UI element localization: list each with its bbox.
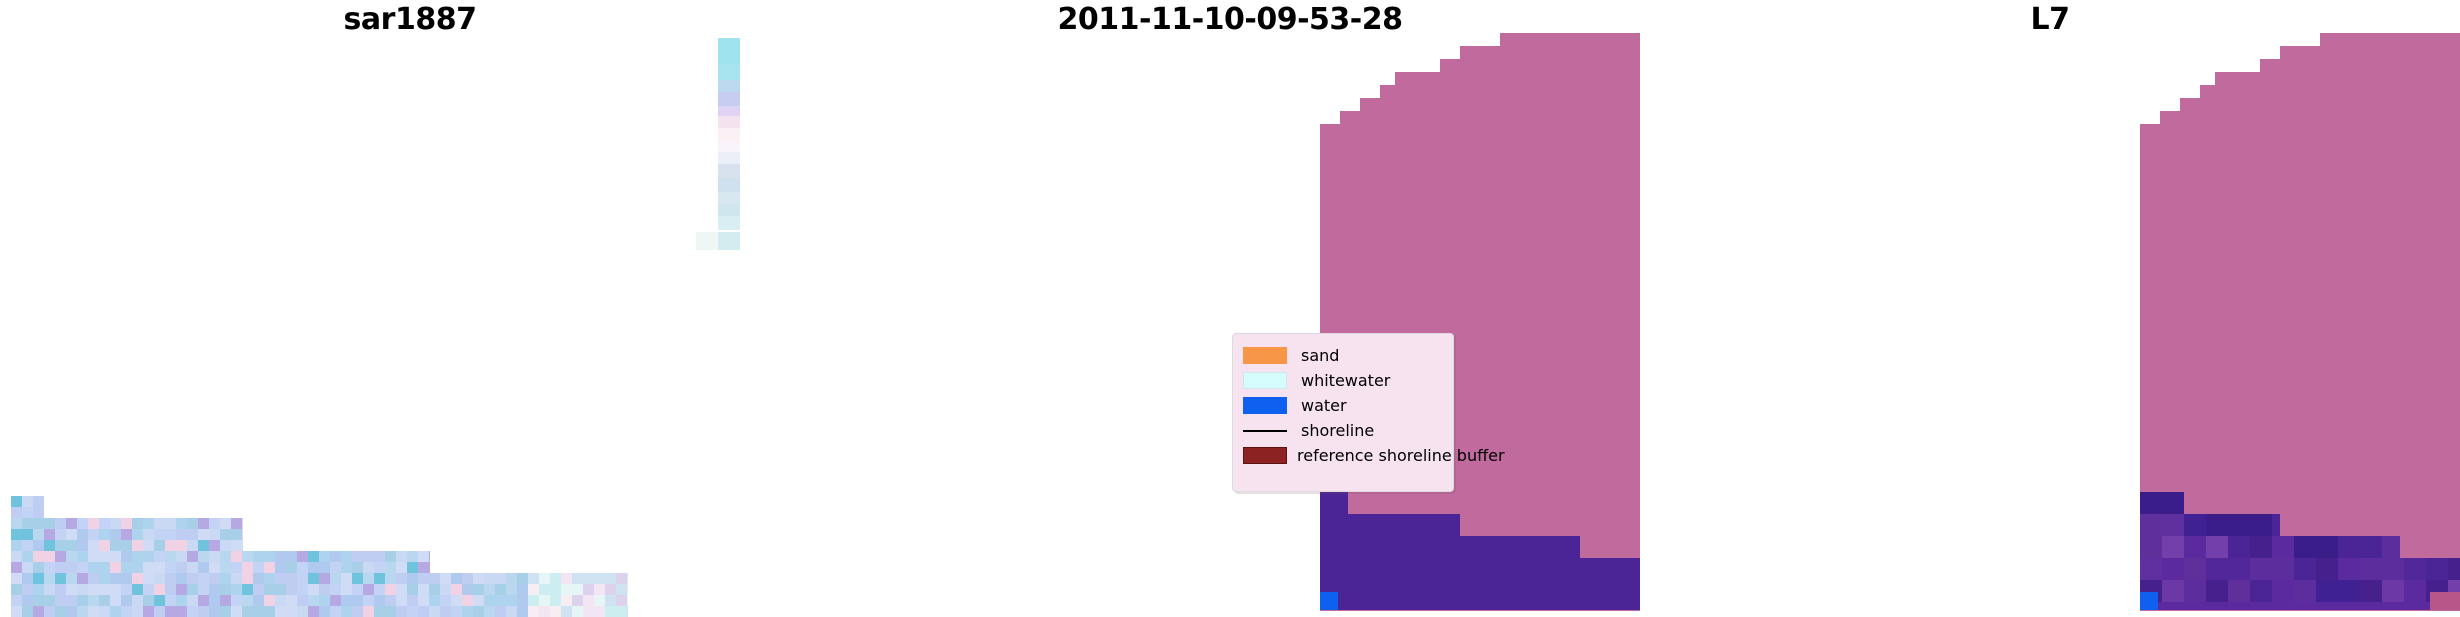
sar-pixel bbox=[473, 606, 484, 617]
sar-pixel bbox=[253, 562, 264, 573]
sar-pixel bbox=[110, 584, 121, 595]
sar-pixel bbox=[154, 551, 165, 562]
sar-pixel bbox=[385, 595, 396, 606]
sar-strip-pixel bbox=[718, 92, 740, 106]
panel-sar1887: sar1887 bbox=[0, 0, 820, 617]
sar-pixel bbox=[473, 573, 484, 584]
legend-item-reference-shoreline-buffer: reference shoreline buffer bbox=[1243, 443, 1443, 468]
sar-pixel bbox=[352, 551, 363, 562]
sar-strip-pixel bbox=[718, 128, 740, 142]
sar-pixel bbox=[154, 573, 165, 584]
sar-pixel bbox=[253, 606, 264, 617]
sar-pixel bbox=[143, 529, 154, 540]
sar-pixel bbox=[330, 562, 341, 573]
l7-water-pixel bbox=[2206, 514, 2228, 536]
sar-pixel bbox=[385, 584, 396, 595]
sar-pixel bbox=[429, 551, 430, 562]
sar-pixel bbox=[55, 562, 66, 573]
sar-pixel bbox=[253, 573, 264, 584]
sar-pixel bbox=[352, 584, 363, 595]
sar-pixel bbox=[363, 551, 374, 562]
sar-pixel bbox=[484, 595, 495, 606]
l7-water-pixel bbox=[2316, 580, 2338, 602]
water-band bbox=[1320, 580, 1640, 610]
sar-pixel bbox=[341, 595, 352, 606]
sar-pixel bbox=[297, 551, 308, 562]
sar-pixel bbox=[55, 584, 66, 595]
land-body bbox=[2140, 297, 2460, 437]
legend-swatch-reference-buffer-wrap bbox=[1243, 447, 1287, 464]
sar-pixel bbox=[550, 606, 561, 617]
land-band bbox=[2320, 33, 2460, 46]
sar-pixel bbox=[55, 551, 66, 562]
sar-pixel bbox=[385, 562, 396, 573]
reference-buffer-pixel bbox=[2430, 592, 2452, 610]
sar-pixel bbox=[187, 584, 198, 595]
sar-pixel bbox=[506, 573, 517, 584]
l7-water-pixel bbox=[2162, 580, 2184, 602]
sar-pixel bbox=[561, 584, 572, 595]
sar-pixel bbox=[297, 595, 308, 606]
sar-pixel bbox=[132, 562, 143, 573]
sar-pixel bbox=[440, 584, 451, 595]
sar-pixel bbox=[330, 584, 341, 595]
sar-pixel bbox=[429, 606, 440, 617]
sar-pixel bbox=[594, 573, 605, 584]
l7-water-pixel bbox=[2316, 558, 2338, 580]
sar-pixel bbox=[121, 584, 132, 595]
sar-pixel bbox=[429, 584, 440, 595]
sar-pixel bbox=[451, 606, 462, 617]
sar-pixel bbox=[110, 551, 121, 562]
l7-water-pixel bbox=[2360, 580, 2382, 602]
legend-swatch-shoreline-wrap bbox=[1243, 430, 1291, 432]
l7-water-pixel bbox=[2140, 536, 2162, 558]
sar-pixel bbox=[264, 606, 275, 617]
sar-pixel bbox=[330, 551, 341, 562]
sar-pixel bbox=[253, 551, 264, 562]
l7-water-pixel bbox=[2338, 580, 2360, 602]
sar-pixel bbox=[407, 562, 418, 573]
sar-strip-pixel bbox=[718, 106, 740, 116]
sar-pixel bbox=[308, 584, 319, 595]
sar-pixel bbox=[33, 584, 44, 595]
sar-pixel bbox=[22, 529, 33, 540]
legend-item-whitewater: whitewater bbox=[1243, 368, 1443, 393]
sar-pixel bbox=[33, 496, 44, 507]
sar-pixel bbox=[440, 573, 451, 584]
sar-pixel bbox=[143, 606, 154, 617]
legend-swatch-sand-wrap bbox=[1243, 347, 1291, 364]
sar-pixel bbox=[22, 507, 33, 518]
sar-pixel bbox=[594, 595, 605, 606]
sar-pixel bbox=[242, 606, 253, 617]
sar-pixel bbox=[165, 529, 176, 540]
land-band bbox=[2140, 124, 2460, 137]
sar-pixel bbox=[220, 540, 231, 551]
legend-item-sand: sand bbox=[1243, 343, 1443, 368]
sar-pixel bbox=[198, 584, 209, 595]
sar-pixel bbox=[561, 606, 572, 617]
sar-pixel bbox=[374, 606, 385, 617]
sar-pixel bbox=[132, 551, 143, 562]
sar-pixel bbox=[242, 562, 253, 573]
sar-pixel bbox=[462, 606, 473, 617]
sar-pixel bbox=[407, 595, 418, 606]
sar-pixel bbox=[22, 606, 33, 617]
sar-pixel bbox=[495, 606, 506, 617]
sar-pixel bbox=[209, 606, 220, 617]
sar-pixel bbox=[583, 573, 594, 584]
sar-pixel bbox=[121, 606, 132, 617]
l7-water-pixel bbox=[2162, 536, 2184, 558]
sar-pixel bbox=[319, 551, 330, 562]
l7-water-pixel bbox=[2162, 514, 2184, 536]
sar-pixel bbox=[198, 540, 209, 551]
sar-pixel bbox=[385, 551, 396, 562]
sar-pixel bbox=[220, 518, 231, 529]
legend-label-sand: sand bbox=[1301, 348, 1339, 364]
sar-pixel bbox=[539, 606, 550, 617]
sar-pixel bbox=[374, 584, 385, 595]
sar-pixel bbox=[198, 518, 209, 529]
sar-pixel bbox=[363, 584, 374, 595]
sar-pixel bbox=[605, 573, 616, 584]
sar-pixel bbox=[352, 595, 363, 606]
sar-pixel bbox=[121, 529, 132, 540]
figure-root: sar1887 2011-11-10-09-53-28 sand whitewa… bbox=[0, 0, 2460, 617]
sar-pixel bbox=[22, 584, 33, 595]
l7-water-pixel bbox=[2184, 536, 2206, 558]
sar-pixel bbox=[88, 518, 99, 529]
sar-pixel bbox=[627, 606, 628, 617]
sar-pixel bbox=[66, 529, 77, 540]
sar-pixel bbox=[363, 562, 374, 573]
sar-pixel bbox=[352, 573, 363, 584]
sar-pixel bbox=[407, 584, 418, 595]
land-band bbox=[1500, 33, 1640, 46]
sar-pixel bbox=[77, 573, 88, 584]
sar-pixel bbox=[77, 562, 88, 573]
sar-pixel bbox=[539, 595, 550, 606]
sar-pixel bbox=[99, 595, 110, 606]
sar-pixel bbox=[242, 518, 243, 529]
sar-pixel bbox=[286, 562, 297, 573]
sar-pixel bbox=[385, 573, 396, 584]
sar-pixel bbox=[110, 595, 121, 606]
sar-pixel bbox=[440, 606, 451, 617]
sar-pixel bbox=[66, 573, 77, 584]
sar-pixel bbox=[33, 606, 44, 617]
sar-strip-pixel bbox=[718, 142, 740, 152]
sar-pixel bbox=[594, 606, 605, 617]
sar-pixel bbox=[396, 584, 407, 595]
sar-pixel bbox=[451, 595, 462, 606]
sar-pixel bbox=[33, 518, 44, 529]
sar-pixel bbox=[286, 573, 297, 584]
sar-pixel bbox=[176, 606, 187, 617]
sar-pixel bbox=[44, 595, 55, 606]
sar-pixel bbox=[209, 529, 220, 540]
l7-water-pixel bbox=[2184, 558, 2206, 580]
sar-pixel bbox=[99, 518, 110, 529]
sar-pixel bbox=[407, 606, 418, 617]
sar-pixel bbox=[187, 562, 198, 573]
sar-pixel bbox=[187, 595, 198, 606]
sar-pixel bbox=[11, 606, 22, 617]
panel-l7: L7 bbox=[1640, 0, 2460, 617]
sar-pixel bbox=[473, 595, 484, 606]
sar-pixel bbox=[550, 584, 561, 595]
sar-pixel bbox=[77, 584, 88, 595]
sar-pixel bbox=[231, 551, 242, 562]
sar-pixel bbox=[33, 573, 44, 584]
sar-pixel bbox=[143, 518, 154, 529]
l7-water-pixel bbox=[2272, 536, 2294, 558]
sar-pixel bbox=[363, 573, 374, 584]
sar-pixel bbox=[11, 573, 22, 584]
l7-water-pixel bbox=[2206, 536, 2228, 558]
sar-pixel bbox=[627, 573, 628, 584]
sar-pixel bbox=[506, 606, 517, 617]
sar-strip-pixel bbox=[718, 204, 740, 216]
sar-pixel bbox=[165, 606, 176, 617]
sar-pixel bbox=[583, 584, 594, 595]
sar-pixel bbox=[484, 584, 495, 595]
sar-pixel bbox=[198, 595, 209, 606]
sar-pixel bbox=[495, 595, 506, 606]
sar-pixel bbox=[22, 496, 33, 507]
sar-pixel bbox=[220, 595, 231, 606]
sar-pixel bbox=[275, 595, 286, 606]
l7-water-pixel bbox=[2426, 558, 2448, 580]
sar-pixel bbox=[330, 595, 341, 606]
sar-pixel bbox=[275, 562, 286, 573]
land-band bbox=[1395, 72, 1640, 85]
sar-pixel bbox=[517, 595, 528, 606]
sar-pixel bbox=[253, 584, 264, 595]
sar-pixel bbox=[275, 573, 286, 584]
sar-pixel bbox=[44, 584, 55, 595]
sar-pixel bbox=[572, 606, 583, 617]
legend-swatch-shoreline bbox=[1243, 430, 1287, 432]
sar-pixel bbox=[264, 595, 275, 606]
sar-pixel bbox=[143, 551, 154, 562]
sar-pixel bbox=[143, 584, 154, 595]
sar-pixel bbox=[99, 584, 110, 595]
sar-pixel bbox=[583, 595, 594, 606]
sar-pixel bbox=[66, 584, 77, 595]
sar-pixel bbox=[110, 573, 121, 584]
sar-pixel bbox=[418, 551, 429, 562]
l7-water-pixel bbox=[2184, 580, 2206, 602]
sar-pixel bbox=[66, 540, 77, 551]
sar-pixel bbox=[198, 606, 209, 617]
legend-label-whitewater: whitewater bbox=[1301, 373, 1390, 389]
sar-pixel bbox=[11, 496, 22, 507]
water-band bbox=[1320, 558, 1640, 580]
sar-pixel bbox=[616, 584, 627, 595]
sar-pixel bbox=[231, 584, 242, 595]
sar-pixel bbox=[363, 606, 374, 617]
sar-strip-pixel bbox=[718, 232, 740, 250]
land-band bbox=[2180, 98, 2460, 111]
sar-pixel bbox=[77, 551, 88, 562]
sar-pixel bbox=[44, 529, 55, 540]
sar-pixel bbox=[121, 595, 132, 606]
sar-pixel bbox=[605, 606, 616, 617]
sar-pixel bbox=[220, 584, 231, 595]
l7-water-pixel bbox=[2250, 536, 2272, 558]
sar-pixel bbox=[44, 540, 55, 551]
l7-water-pixel bbox=[2140, 558, 2162, 580]
sar-strip-pixel bbox=[696, 232, 718, 250]
sar-pixel bbox=[242, 529, 243, 540]
sar-pixel bbox=[110, 606, 121, 617]
sar-pixel bbox=[176, 573, 187, 584]
sar-pixel bbox=[374, 595, 385, 606]
sar-pixel bbox=[198, 529, 209, 540]
sar-pixel bbox=[319, 606, 330, 617]
sar-pixel bbox=[110, 518, 121, 529]
sar-pixel bbox=[517, 584, 528, 595]
sar-pixel bbox=[286, 551, 297, 562]
sar-pixel bbox=[55, 540, 66, 551]
sar-pixel bbox=[198, 573, 209, 584]
land-band bbox=[2140, 486, 2460, 500]
sar-pixel bbox=[209, 562, 220, 573]
sar-pixel bbox=[121, 573, 132, 584]
sar-pixel bbox=[308, 595, 319, 606]
l7-water-pixel bbox=[2404, 580, 2426, 602]
sar-pixel bbox=[154, 529, 165, 540]
sar-pixel bbox=[275, 584, 286, 595]
l7-water-pixel bbox=[2184, 514, 2206, 536]
sar-pixel bbox=[66, 551, 77, 562]
sar-strip-pixel bbox=[718, 164, 740, 178]
legend-swatch-water-wrap bbox=[1243, 397, 1291, 414]
sar-pixel bbox=[572, 595, 583, 606]
sar-pixel bbox=[165, 584, 176, 595]
sar-pixel bbox=[616, 573, 627, 584]
sar-pixel bbox=[88, 529, 99, 540]
sar-pixel bbox=[396, 573, 407, 584]
l7-water-pixel bbox=[2228, 580, 2250, 602]
sar-pixel bbox=[110, 529, 121, 540]
sar-pixel bbox=[341, 584, 352, 595]
sar-pixel bbox=[275, 551, 286, 562]
sar-pixel bbox=[66, 562, 77, 573]
land-band bbox=[1320, 500, 1640, 514]
sar-pixel bbox=[550, 573, 561, 584]
sar-pixel bbox=[121, 518, 132, 529]
l7-water-pixel bbox=[2338, 536, 2360, 558]
land-band bbox=[2160, 111, 2460, 124]
sar-pixel bbox=[374, 573, 385, 584]
sar-pixel bbox=[44, 606, 55, 617]
sar-pixel bbox=[88, 584, 99, 595]
sar-pixel bbox=[176, 551, 187, 562]
sar-pixel bbox=[99, 540, 110, 551]
sar-pixel bbox=[473, 584, 484, 595]
sar-pixel bbox=[308, 606, 319, 617]
sar-pixel bbox=[418, 584, 429, 595]
land-band bbox=[1320, 124, 1640, 137]
sar-pixel bbox=[11, 595, 22, 606]
sar-pixel bbox=[88, 595, 99, 606]
land-band bbox=[1360, 98, 1640, 111]
sar-pixel bbox=[506, 584, 517, 595]
sar-pixel bbox=[99, 573, 110, 584]
l7-water-pixel bbox=[2140, 514, 2162, 536]
sar-strip-pixel bbox=[718, 192, 740, 204]
l7-water-pixel bbox=[2140, 492, 2162, 514]
sar-pixel bbox=[77, 518, 88, 529]
sar-pixel bbox=[341, 562, 352, 573]
sar-pixel bbox=[22, 540, 33, 551]
legend-swatch-reference-buffer bbox=[1243, 447, 1287, 464]
legend-swatch-whitewater bbox=[1243, 372, 1287, 389]
sar-pixel bbox=[187, 551, 198, 562]
sar-pixel bbox=[88, 606, 99, 617]
sar-pixel bbox=[297, 573, 308, 584]
sar-pixel bbox=[22, 573, 33, 584]
l7-water-pixel bbox=[2360, 558, 2382, 580]
sar-pixel bbox=[220, 573, 231, 584]
sar-pixel bbox=[11, 518, 22, 529]
sar-pixel bbox=[55, 606, 66, 617]
sar-pixel bbox=[209, 540, 220, 551]
sar-pixel bbox=[363, 595, 374, 606]
l7-water-pixel bbox=[2272, 558, 2294, 580]
sar-pixel bbox=[462, 573, 473, 584]
sar-pixel bbox=[110, 540, 121, 551]
sar-pixel bbox=[407, 573, 418, 584]
sar-pixel bbox=[242, 540, 243, 551]
land-band bbox=[2200, 85, 2460, 98]
sar-pixel bbox=[451, 573, 462, 584]
sar-pixel bbox=[44, 551, 55, 562]
sar-strip-pixel bbox=[718, 178, 740, 192]
l7-water-pixel bbox=[2360, 536, 2382, 558]
sar-pixel bbox=[99, 551, 110, 562]
sar-pixel bbox=[220, 562, 231, 573]
sar-pixel bbox=[572, 573, 583, 584]
sar-pixel bbox=[231, 606, 242, 617]
water-band bbox=[1320, 514, 1460, 536]
sar-pixel bbox=[132, 595, 143, 606]
raster-canvas-l7 bbox=[1640, 0, 2460, 617]
sar-pixel bbox=[528, 573, 539, 584]
sar-pixel bbox=[11, 562, 22, 573]
sar-pixel bbox=[275, 606, 286, 617]
sar-pixel bbox=[396, 606, 407, 617]
sar-pixel bbox=[209, 595, 220, 606]
sar-pixel bbox=[605, 595, 616, 606]
l7-water-pixel bbox=[2272, 580, 2294, 602]
sar-pixel bbox=[132, 606, 143, 617]
land-band bbox=[1460, 46, 1640, 59]
sar-pixel bbox=[319, 573, 330, 584]
sar-pixel bbox=[176, 584, 187, 595]
sar-pixel bbox=[66, 595, 77, 606]
land-band bbox=[2215, 72, 2460, 85]
sar-pixel bbox=[385, 606, 396, 617]
sar-pixel bbox=[231, 529, 242, 540]
sar-pixel bbox=[88, 540, 99, 551]
l7-water-pixel bbox=[2228, 558, 2250, 580]
sar-pixel bbox=[286, 584, 297, 595]
